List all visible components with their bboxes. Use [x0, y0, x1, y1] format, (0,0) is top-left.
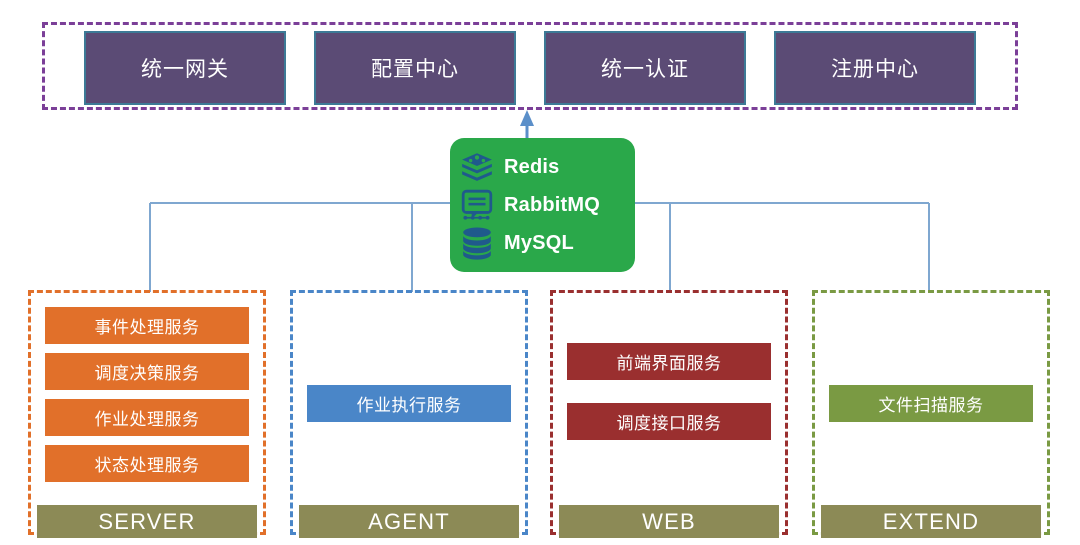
service-file-scan[interactable]: 文件扫描服务: [829, 385, 1033, 422]
service-status-processing[interactable]: 状态处理服务: [45, 445, 249, 482]
rabbitmq-message-icon: [460, 188, 494, 222]
platform-box-auth[interactable]: 统一认证: [544, 31, 746, 105]
middleware-item-mysql[interactable]: MySQL: [460, 225, 635, 261]
group-extend: 文件扫描服务: [812, 290, 1050, 535]
service-schedule-decision[interactable]: 调度决策服务: [45, 353, 249, 390]
middleware-label-mysql: MySQL: [504, 232, 574, 255]
middleware-item-rabbitmq[interactable]: RabbitMQ: [460, 187, 635, 223]
group-agent: 作业执行服务: [290, 290, 528, 535]
group-label-extend: EXTEND: [821, 505, 1041, 538]
group-label-server: SERVER: [37, 505, 257, 538]
service-schedule-api[interactable]: 调度接口服务: [567, 403, 771, 440]
service-frontend-ui[interactable]: 前端界面服务: [567, 343, 771, 380]
group-server: 事件处理服务 调度决策服务 作业处理服务 状态处理服务: [28, 290, 266, 535]
platform-box-gateway[interactable]: 统一网关: [84, 31, 286, 105]
group-label-web: WEB: [559, 505, 779, 538]
group-web-services: 前端界面服务 调度接口服务: [553, 293, 785, 500]
platform-layer: 统一网关 配置中心 统一认证 注册中心: [42, 33, 1018, 103]
mysql-database-icon: [460, 226, 494, 260]
redis-stack-icon: [460, 150, 494, 184]
arrow-head-up: [520, 110, 534, 126]
service-event-processing[interactable]: 事件处理服务: [45, 307, 249, 344]
service-job-processing[interactable]: 作业处理服务: [45, 399, 249, 436]
middleware-label-redis: Redis: [504, 156, 559, 179]
group-agent-services: 作业执行服务: [293, 293, 525, 500]
group-web: 前端界面服务 调度接口服务: [550, 290, 788, 535]
group-extend-services: 文件扫描服务: [815, 293, 1047, 500]
group-label-agent: AGENT: [299, 505, 519, 538]
middleware-item-redis[interactable]: Redis: [460, 149, 635, 185]
middleware-label-rabbitmq: RabbitMQ: [504, 194, 600, 217]
group-server-services: 事件处理服务 调度决策服务 作业处理服务 状态处理服务: [31, 293, 263, 500]
platform-box-registry[interactable]: 注册中心: [774, 31, 976, 105]
platform-box-config-center[interactable]: 配置中心: [314, 31, 516, 105]
middleware-box: Redis RabbitMQ: [450, 138, 635, 272]
architecture-diagram: 统一网关 配置中心 统一认证 注册中心 Redis: [0, 0, 1080, 545]
service-job-execution[interactable]: 作业执行服务: [307, 385, 511, 422]
